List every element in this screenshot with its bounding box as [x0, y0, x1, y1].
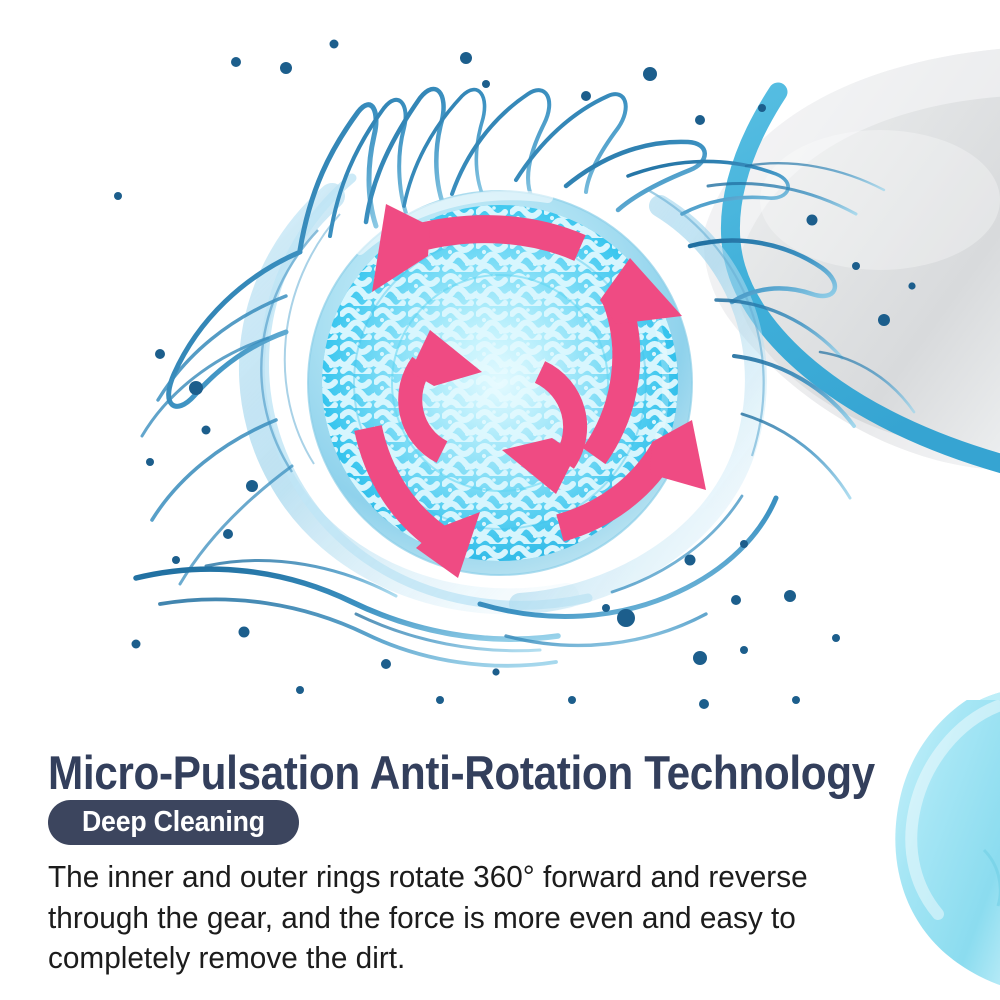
page-title: Micro-Pulsation Anti-Rotation Technology: [48, 749, 875, 797]
status-badge-label: Deep Cleaning: [82, 808, 265, 837]
status-badge: Deep Cleaning: [48, 800, 299, 845]
device-accessory-tip-overflow: [860, 690, 1000, 735]
hero-illustration: [0, 0, 1000, 735]
water-splash-left: [142, 252, 300, 584]
product-feature-page: Micro-Pulsation Anti-Rotation Technology…: [0, 0, 1000, 1000]
hero-product-image: [0, 0, 1000, 735]
description-text: The inner and outer rings rotate 360° fo…: [48, 857, 912, 979]
copy-block: Micro-Pulsation Anti-Rotation Technology…: [0, 735, 1000, 1000]
